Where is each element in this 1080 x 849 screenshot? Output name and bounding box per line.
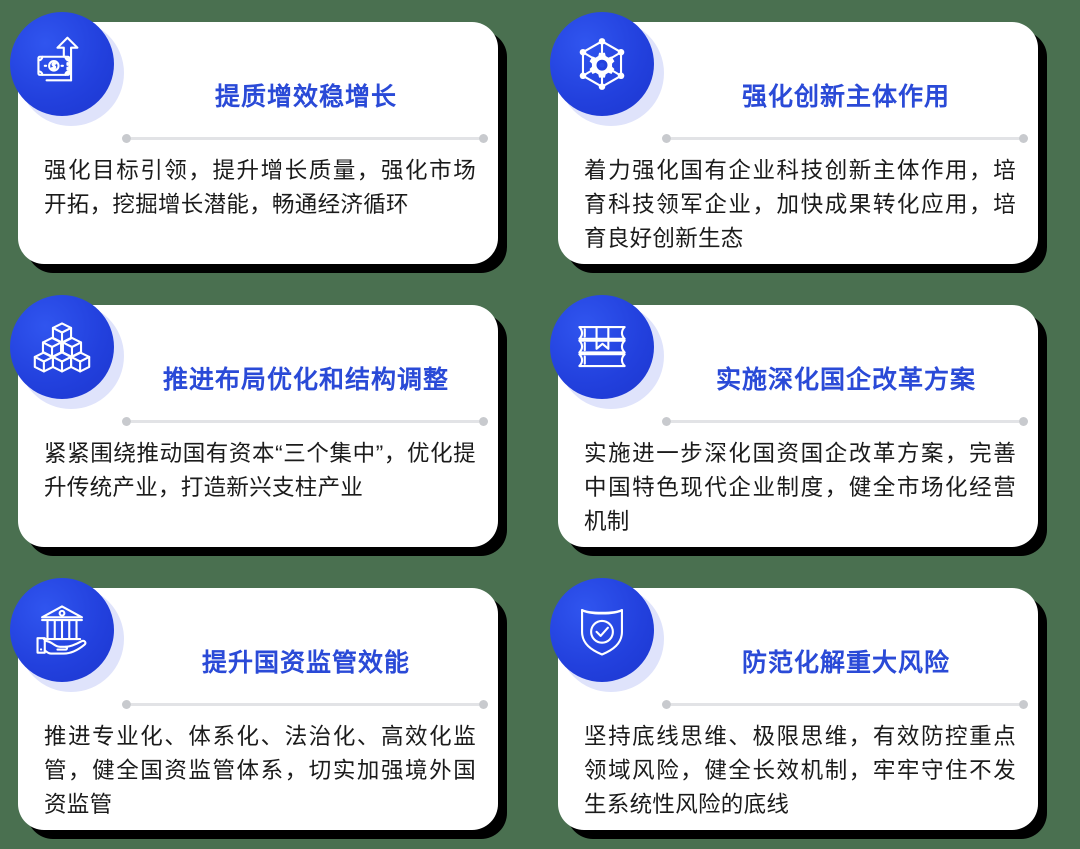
card-badge-6 [546,574,668,696]
card-title-row-5: 提升国资监管效能 [128,640,484,686]
card-cell-3: 推进布局优化和结构调整 紧紧围绕推动国有资本“三个集中”，优化提升传统产业，打造… [0,283,540,566]
bank-in-hand-icon [33,601,91,659]
card-badge-1 [6,8,128,130]
infographic-board: 提质增效稳增长 强化目标引领，提升增长质量，强化市场开拓，挖掘增长潜能，畅通经济… [0,0,1080,849]
card-body-text: 紧紧围绕推动国有资本“三个集中”，优化提升传统产业，打造新兴支柱产业 [44,437,476,505]
divider-dot-left [122,700,131,709]
shield-check-icon [573,601,631,659]
badge-circle [10,295,114,399]
card-badge-2 [546,8,668,130]
card-divider [122,134,488,143]
card-body-text: 着力强化国有企业科技创新主体作用，培育科技领军企业，加快成果转化应用，培育良好创… [584,154,1016,257]
card-body-text: 强化目标引领，提升增长质量，强化市场开拓，挖掘增长潜能，畅通经济循环 [44,154,476,222]
divider-dot-right [479,134,488,143]
divider-dot-right [479,700,488,709]
divider-dot-right [1019,134,1028,143]
card-cell-4: 实施深化国企改革方案 实施进一步深化国资国企改革方案，完善中国特色现代企业制度，… [540,283,1080,566]
divider-dot-right [1019,417,1028,426]
card-title: 提质增效稳增长 [215,85,397,110]
divider-bar [131,420,479,423]
divider-dot-right [479,417,488,426]
card-body-text: 实施进一步深化国资国企改革方案，完善中国特色现代企业制度，健全市场化经营机制 [584,437,1016,540]
card-badge-5 [6,574,128,696]
divider-bar [131,703,479,706]
card-title: 提升国资监管效能 [202,651,410,676]
card-grid: 提质增效稳增长 强化目标引领，提升增长质量，强化市场开拓，挖掘增长潜能，畅通经济… [0,0,1080,849]
card-title: 强化创新主体作用 [742,85,950,110]
badge-circle [550,578,654,682]
divider-bar [671,420,1019,423]
badge-circle [10,578,114,682]
money-growth-icon [33,35,91,93]
card-title: 防范化解重大风险 [742,651,950,676]
card-cell-1: 提质增效稳增长 强化目标引领，提升增长质量，强化市场开拓，挖掘增长潜能，畅通经济… [0,0,540,283]
card-divider [662,134,1028,143]
stacked-cubes-icon [33,318,91,376]
card-body-text: 坚持底线思维、极限思维，有效防控重点领域风险，健全长效机制，牢牢守住不发生系统性… [584,720,1016,823]
card-title-row-1: 提质增效稳增长 [128,74,484,120]
badge-circle [10,12,114,116]
card-badge-3 [6,291,128,413]
card-cell-2: 强化创新主体作用 着力强化国有企业科技创新主体作用，培育科技领军企业，加快成果转… [540,0,1080,283]
divider-bar [131,137,479,140]
badge-circle [550,295,654,399]
divider-dot-left [662,700,671,709]
card-divider [662,417,1028,426]
divider-dot-left [662,134,671,143]
card-title-row-4: 实施深化国企改革方案 [668,357,1024,403]
card-title: 推进布局优化和结构调整 [163,368,449,393]
divider-dot-left [122,417,131,426]
books-bookmark-icon [573,318,631,376]
divider-dot-left [122,134,131,143]
card-cell-6: 防范化解重大风险 坚持底线思维、极限思维，有效防控重点领域风险，健全长效机制，牢… [540,566,1080,849]
badge-circle [550,12,654,116]
card-cell-5: 提升国资监管效能 推进专业化、体系化、法治化、高效化监管，健全国资监管体系，切实… [0,566,540,849]
divider-bar [671,137,1019,140]
card-badge-4 [546,291,668,413]
card-divider [122,700,488,709]
card-title-row-2: 强化创新主体作用 [668,74,1024,120]
card-title: 实施深化国企改革方案 [716,368,976,393]
card-body-text: 推进专业化、体系化、法治化、高效化监管，健全国资监管体系，切实加强境外国资监管 [44,720,476,823]
card-title-row-3: 推进布局优化和结构调整 [128,357,484,403]
card-title-row-6: 防范化解重大风险 [668,640,1024,686]
card-divider [662,700,1028,709]
card-divider [122,417,488,426]
innovation-network-gear-icon [573,35,631,93]
divider-bar [671,703,1019,706]
divider-dot-left [662,417,671,426]
divider-dot-right [1019,700,1028,709]
